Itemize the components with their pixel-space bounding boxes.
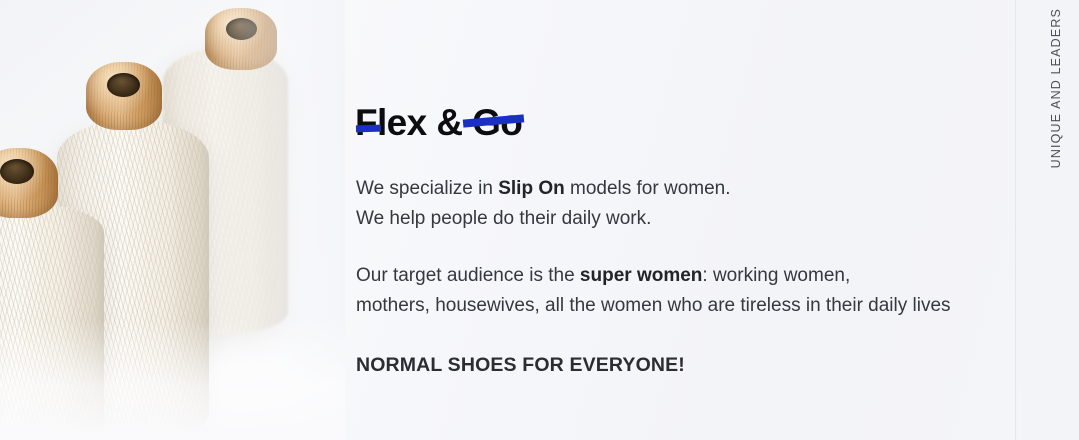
spool-center-hole (107, 73, 140, 97)
audience-line-2: mothers, housewives, all the women who a… (356, 291, 951, 321)
banner-tagline: NORMAL SHOES FOR EVERYONE! (356, 354, 685, 377)
promo-banner: Flex & Go We specialize in Slip On model… (0, 0, 1079, 440)
audience-line-1-suffix: : working women, (702, 265, 850, 286)
thread-spool-front (0, 148, 104, 440)
intro-line-1: We specialize in Slip On models for wome… (356, 174, 731, 204)
spool-center-hole (226, 18, 257, 40)
side-vertical-label: UNIQUE AND LEADERS (1049, 8, 1063, 168)
spool-center-hole (0, 159, 34, 184)
intro-line-2: We help people do their daily work. (356, 204, 731, 234)
audience-line-1-emphasis: super women (580, 265, 702, 286)
audience-line-1: Our target audience is the super women: … (356, 261, 951, 291)
banner-content: Flex & Go We specialize in Slip On model… (355, 0, 1015, 440)
audience-line-1-prefix: Our target audience is the (356, 265, 580, 286)
spool-thread-body (0, 204, 104, 440)
intro-line-1-prefix: We specialize in (356, 178, 498, 199)
side-strip: UNIQUE AND LEADERS (1015, 0, 1079, 440)
brand-wordmark: Flex & Go (355, 104, 522, 141)
spool-wooden-core (0, 148, 58, 218)
intro-paragraph: We specialize in Slip On models for wome… (356, 174, 731, 234)
intro-line-1-emphasis: Slip On (498, 178, 565, 199)
logo-accent-bar-f-icon (356, 124, 381, 132)
intro-line-1-suffix: models for women. (565, 178, 731, 199)
thread-spools-photo (0, 0, 345, 440)
brand-logo: Flex & Go (355, 99, 522, 145)
audience-paragraph: Our target audience is the super women: … (356, 261, 951, 321)
